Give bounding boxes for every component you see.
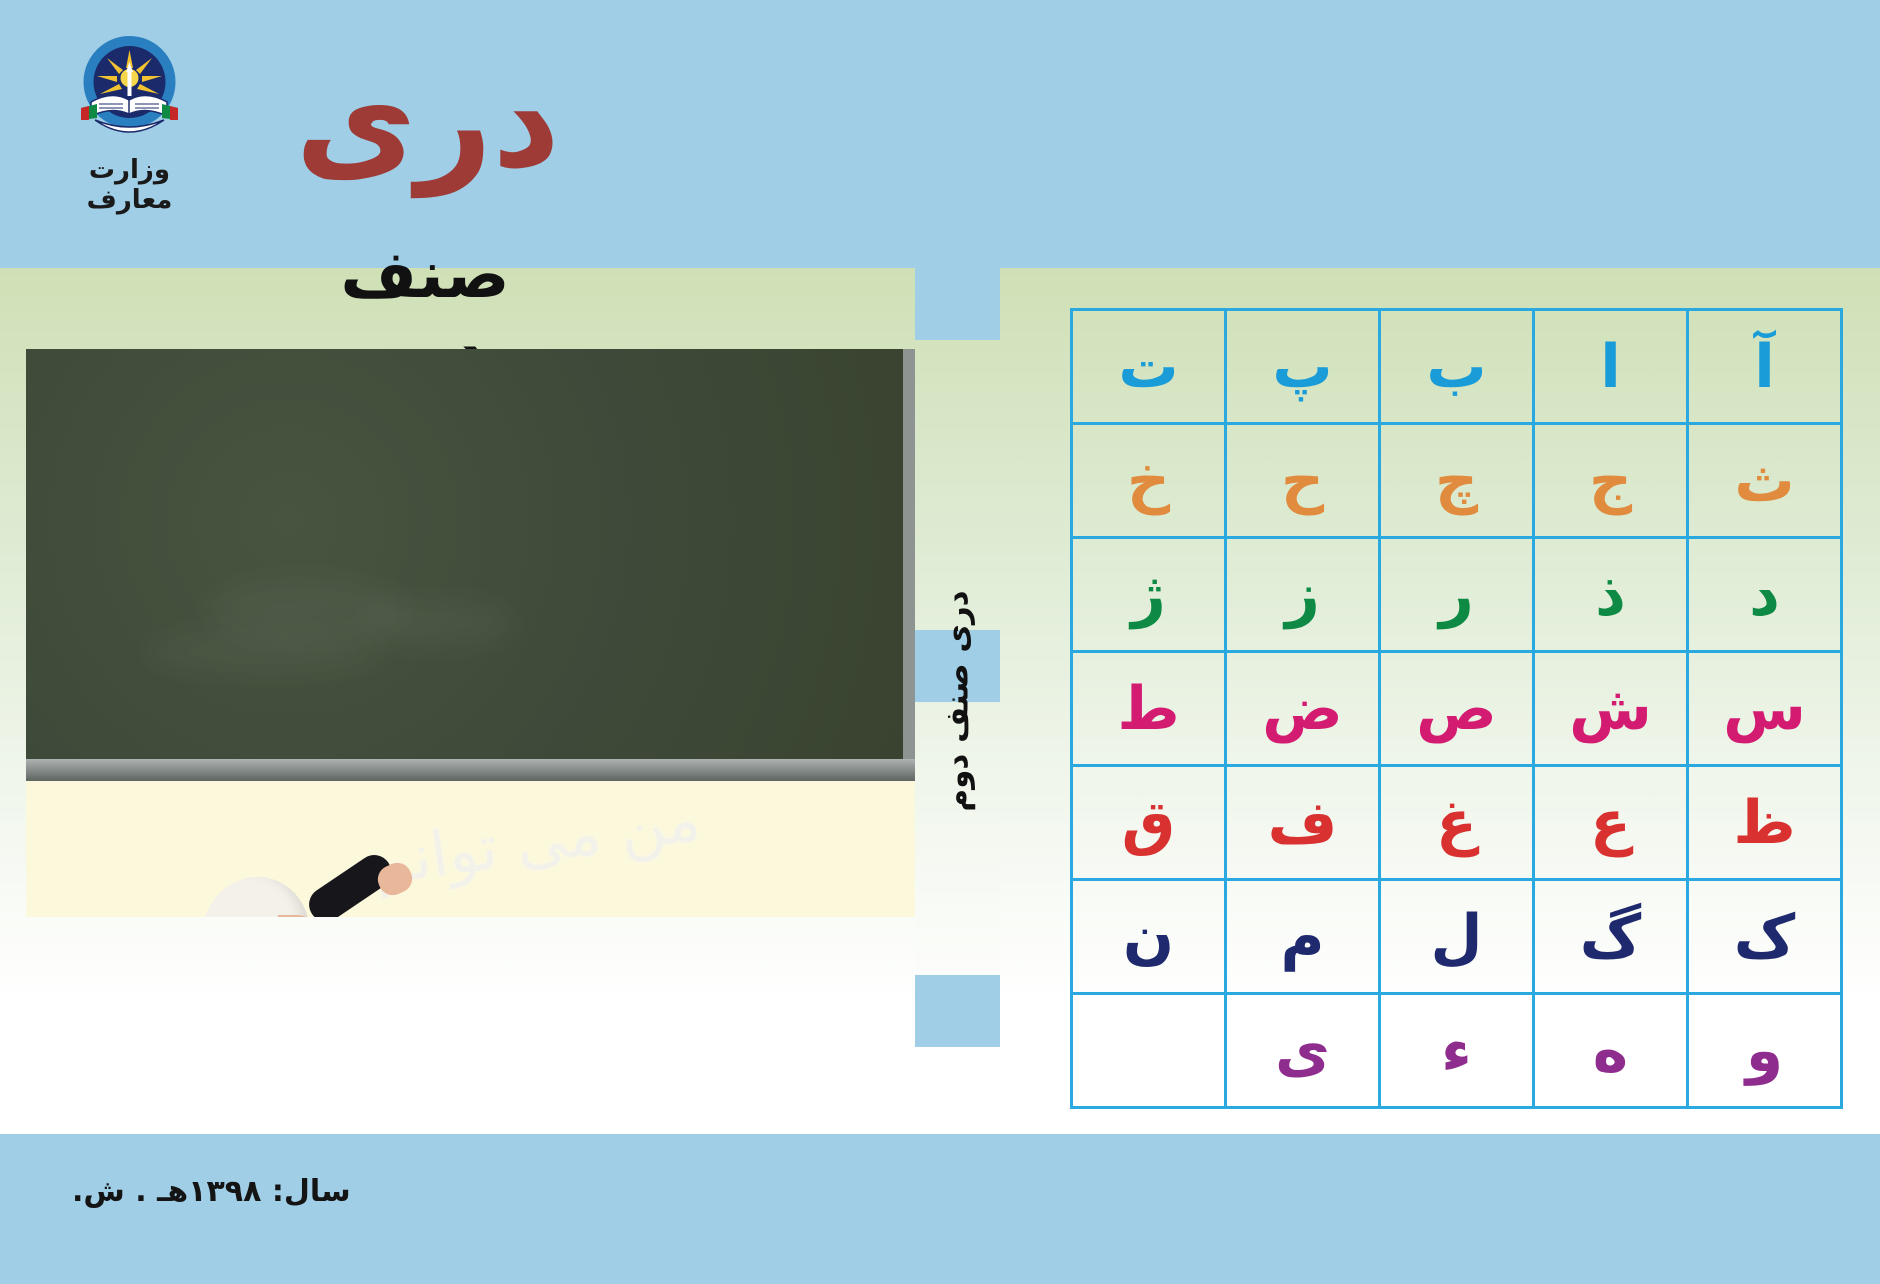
alphabet-cell: د bbox=[1688, 538, 1842, 652]
alphabet-cell: ء bbox=[1380, 994, 1534, 1108]
publication-year: سال: ۱۳۹۸هـ . ش. bbox=[72, 1174, 351, 1209]
chalk-smudge bbox=[356, 599, 516, 647]
alphabet-row: ظعغفق bbox=[1072, 766, 1842, 880]
alphabet-cell: ه bbox=[1534, 994, 1688, 1108]
ministry-logo-block: وزارت معارف bbox=[42, 24, 217, 215]
alphabet-cell: ر bbox=[1380, 538, 1534, 652]
alphabet-row: سشصضط bbox=[1072, 652, 1842, 766]
alphabet-cell: ض bbox=[1226, 652, 1380, 766]
alphabet-cell: س bbox=[1688, 652, 1842, 766]
alphabet-cell: ج bbox=[1534, 424, 1688, 538]
alphabet-row: کگلمن bbox=[1072, 880, 1842, 994]
textbook-cover: دری صنف دوم bbox=[0, 0, 1880, 1284]
alphabet-cell: غ bbox=[1380, 766, 1534, 880]
alphabet-cell: ش bbox=[1534, 652, 1688, 766]
alphabet-row: آابپت bbox=[1072, 310, 1842, 424]
spine-title-text: دری صنف دوم bbox=[940, 590, 976, 811]
chalkboard-frame bbox=[26, 349, 915, 774]
alphabet-table-body: آابپتثجچحخدذرزژسشصضطظعغفقکگلمنوهءی bbox=[1072, 310, 1842, 1108]
alphabet-cell: پ bbox=[1226, 310, 1380, 424]
alphabet-cell: چ bbox=[1380, 424, 1534, 538]
alphabet-row: دذرزژ bbox=[1072, 538, 1842, 652]
ministry-emblem-icon bbox=[67, 24, 192, 149]
alphabet-cell: ی bbox=[1226, 994, 1380, 1108]
alphabet-cell: ث bbox=[1688, 424, 1842, 538]
alphabet-row: ثجچحخ bbox=[1072, 424, 1842, 538]
alphabet-cell: ق bbox=[1072, 766, 1226, 880]
alphabet-cell: ح bbox=[1226, 424, 1380, 538]
chalkboard-ledge bbox=[26, 759, 915, 781]
alphabet-cell: ز bbox=[1226, 538, 1380, 652]
alphabet-cell: ل bbox=[1380, 880, 1534, 994]
alphabet-cell: ب bbox=[1380, 310, 1534, 424]
spine-title: دری صنف دوم bbox=[915, 268, 1000, 1134]
alphabet-cell: ن bbox=[1072, 880, 1226, 994]
alphabet-cell: ا bbox=[1534, 310, 1688, 424]
alphabet-cell: ع bbox=[1534, 766, 1688, 880]
page-title: دری bbox=[300, 52, 560, 191]
chalk-smudge bbox=[146, 629, 386, 673]
cover-illustration: من می توانم حفظ bbox=[26, 349, 915, 917]
chalkboard-surface bbox=[26, 349, 903, 759]
alphabet-cell: ت bbox=[1072, 310, 1226, 424]
alphabet-cell-empty bbox=[1072, 994, 1226, 1108]
alphabet-cell: ک bbox=[1688, 880, 1842, 994]
alphabet-cell: ظ bbox=[1688, 766, 1842, 880]
alphabet-cell: ذ bbox=[1534, 538, 1688, 652]
alphabet-cell: ط bbox=[1072, 652, 1226, 766]
alphabet-cell: م bbox=[1226, 880, 1380, 994]
alphabet-cell: و bbox=[1688, 994, 1842, 1108]
alphabet-cell: ص bbox=[1380, 652, 1534, 766]
alphabet-cell: ژ bbox=[1072, 538, 1226, 652]
alphabet-cell: آ bbox=[1688, 310, 1842, 424]
alphabet-cell: گ bbox=[1534, 880, 1688, 994]
alphabet-row: وهءی bbox=[1072, 994, 1842, 1108]
alphabet-cell: ف bbox=[1226, 766, 1380, 880]
alphabet-table: آابپتثجچحخدذرزژسشصضطظعغفقکگلمنوهءی bbox=[1070, 308, 1843, 1109]
alphabet-cell: خ bbox=[1072, 424, 1226, 538]
ministry-label: وزارت معارف bbox=[42, 155, 217, 215]
